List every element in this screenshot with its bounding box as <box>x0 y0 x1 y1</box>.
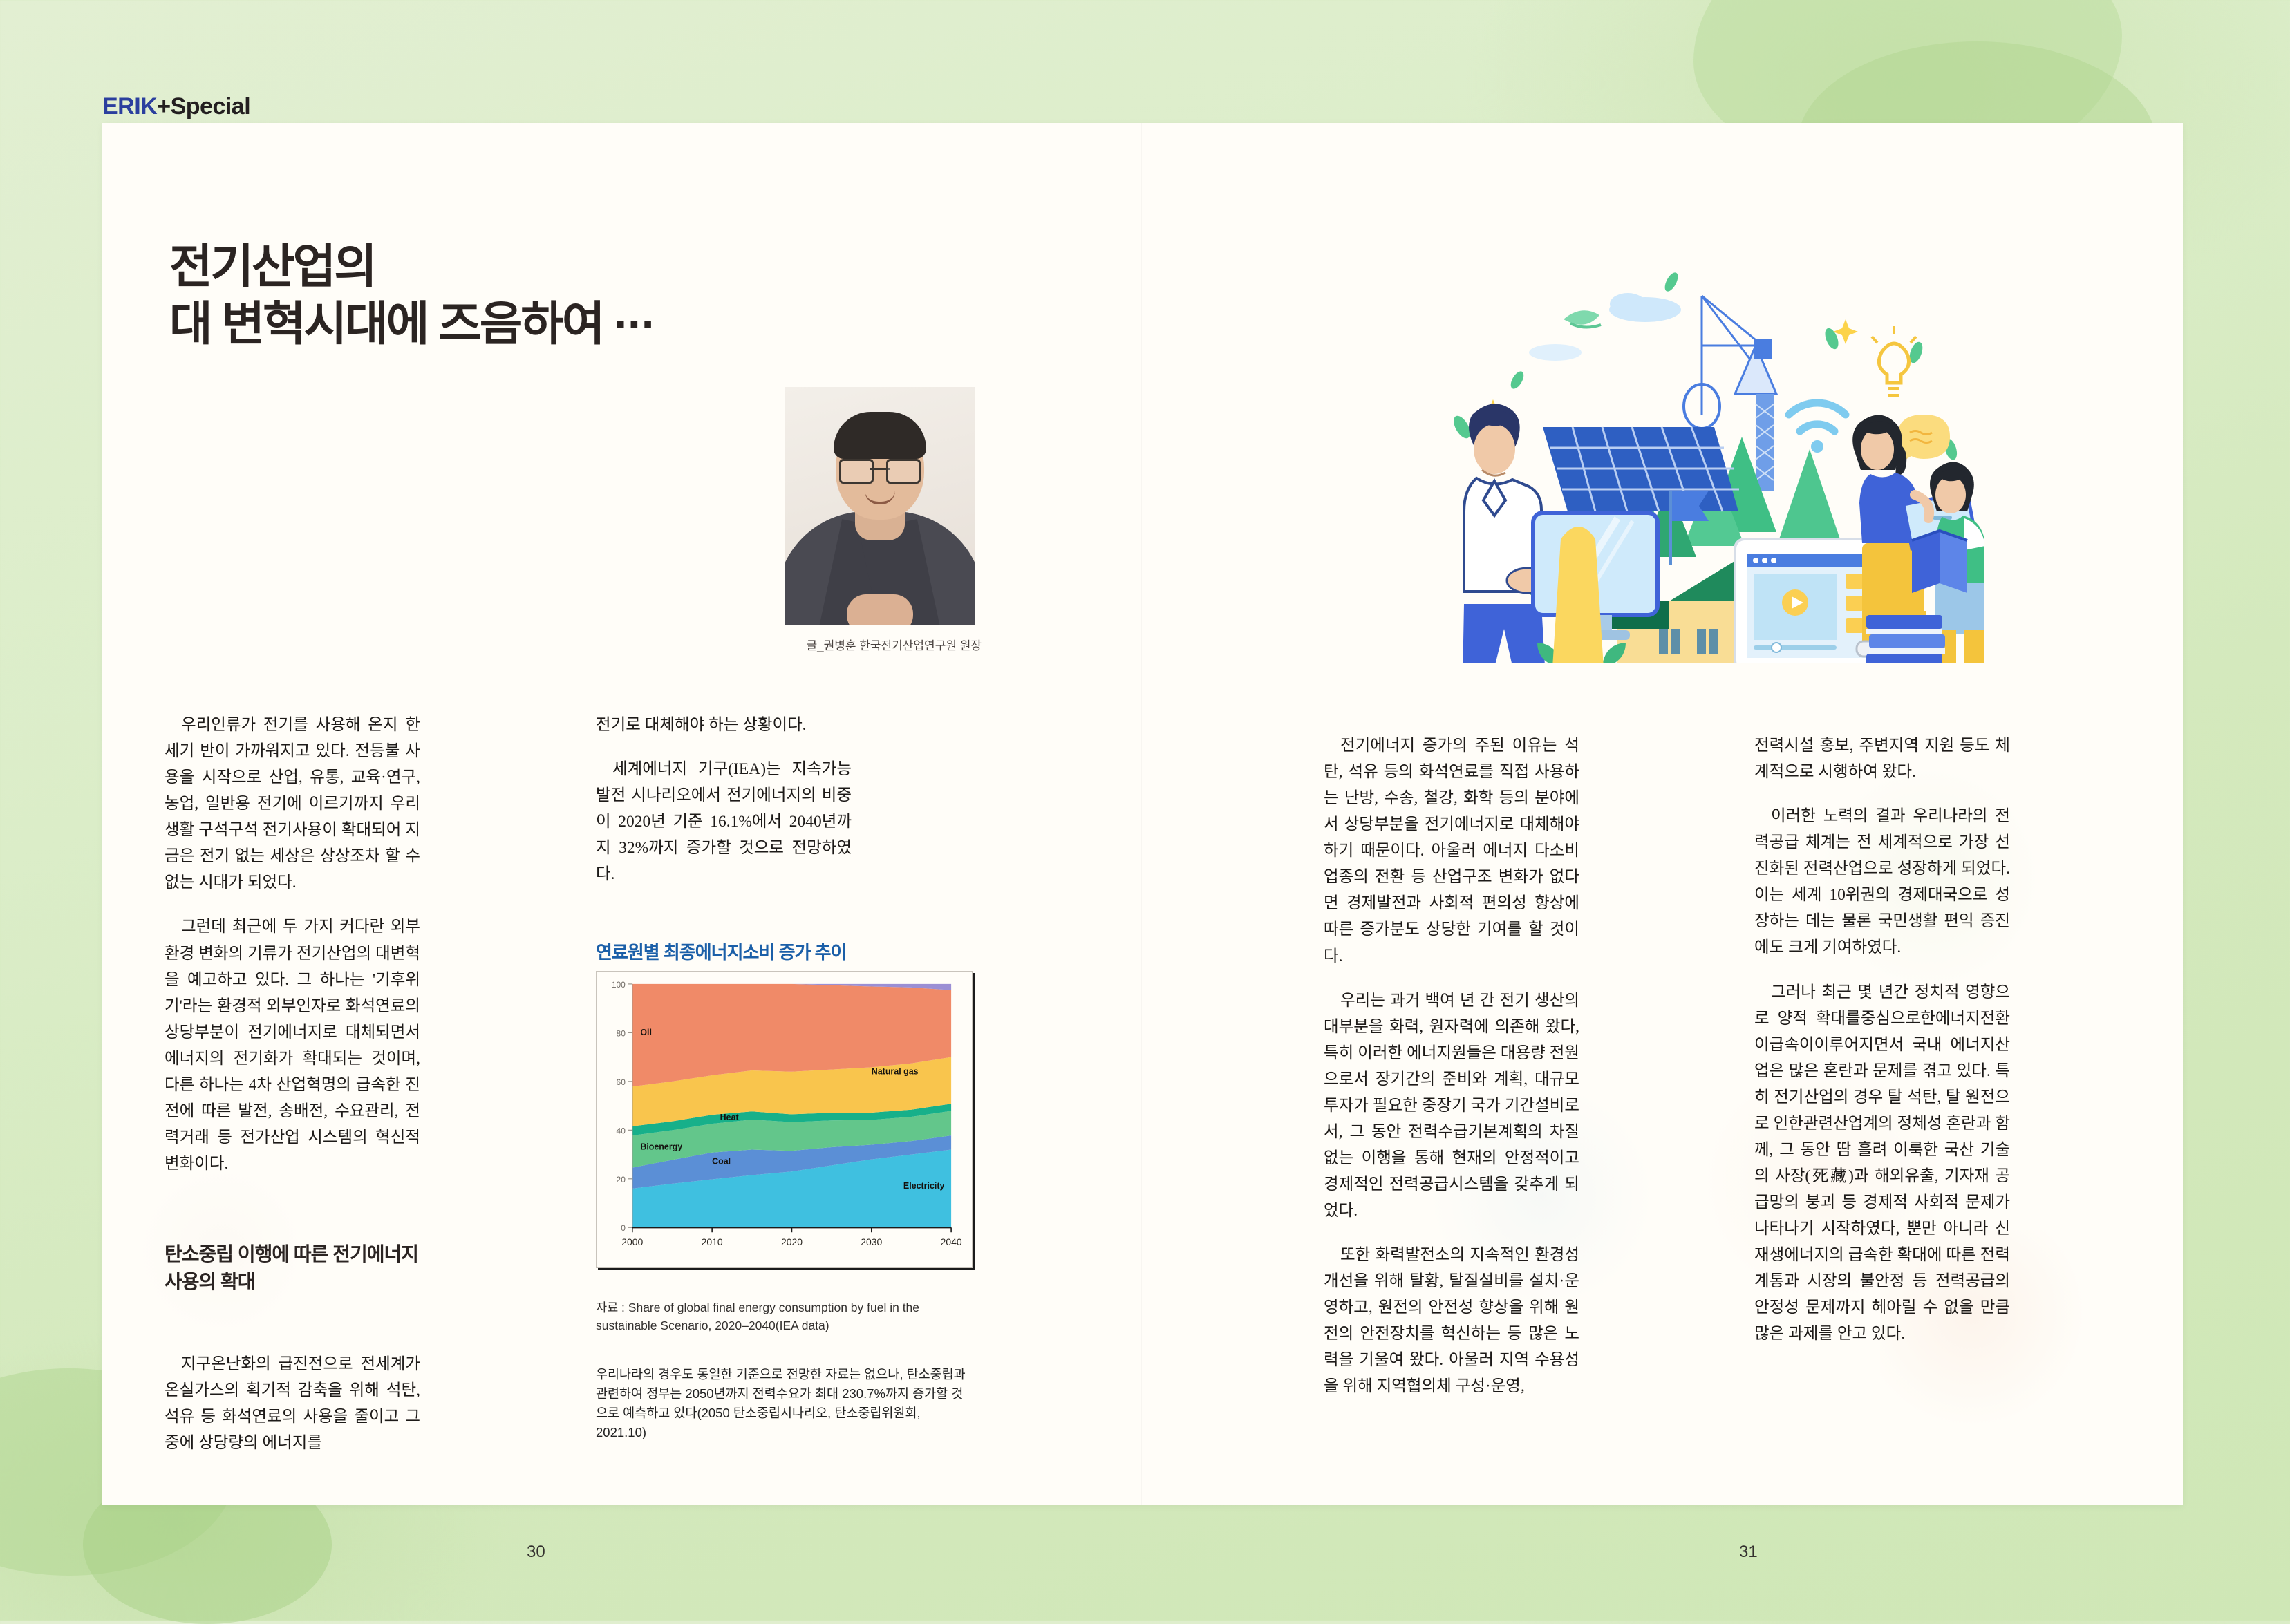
text-column-1-continued: 지구온난화의 급진전으로 전세계가 온실가스의 획기적 감축을 위해 석탄, 석… <box>165 1351 420 1456</box>
spread-fold <box>1141 123 1142 1505</box>
y-tick-label: 100 <box>612 980 626 990</box>
series-label-heat: Heat <box>720 1113 739 1122</box>
paragraph: 그러나 최근 몇 년간 정치적 영향으로 양적 확대를중심으로한에너지전환이급속… <box>1754 979 2010 1348</box>
section-subheading: 탄소중립 이행에 따른 전기에너지 사용의 확대 <box>165 1240 434 1296</box>
text-column-3: 전기에너지 증가의 주된 이유는 석탄, 석유 등의 화석연료를 직접 사용하는… <box>1324 733 1579 1418</box>
folder-icon <box>1846 574 1864 633</box>
page-number-right: 31 <box>1739 1542 1758 1562</box>
crane-mast <box>1756 394 1774 491</box>
subheading-line-2: 사용의 확대 <box>165 1268 434 1296</box>
page-title: 전기산업의 대 변혁시대에 즈음하여 ··· <box>169 238 655 353</box>
leaf-bird-icon <box>1564 310 1599 324</box>
chart-title: 연료원별 최종에너지소비 증가 추이 <box>596 938 973 964</box>
brand-special: +Special <box>157 93 250 120</box>
title-line-2: 대 변혁시대에 즈음하여 ··· <box>169 296 655 353</box>
x-tick-label: 2040 <box>941 1236 962 1247</box>
solar-panel-icon <box>1543 427 1739 511</box>
chart-plot-area: 02040608010020002010202020302040OilNatur… <box>596 971 973 1268</box>
paragraph: 전기에너지 증가의 주된 이유는 석탄, 석유 등의 화석연료를 직접 사용하는… <box>1324 733 1579 970</box>
chart-source-note: 자료 : Share of global final energy consum… <box>596 1299 973 1335</box>
x-tick-label: 2000 <box>621 1236 643 1247</box>
paragraph: 이러한 노력의 결과 우리나라의 전력공급 체계는 전 세계적으로 가장 선진화… <box>1754 803 2010 961</box>
paragraph: 전력시설 홍보, 주변지역 지원 등도 체계적으로 시행하여 왔다. <box>1754 733 2010 785</box>
paragraph: 지구온난화의 급진전으로 전세계가 온실가스의 획기적 감축을 위해 석탄, 석… <box>165 1351 420 1456</box>
lightbulb-icon <box>1872 326 1916 395</box>
y-tick-label: 20 <box>617 1175 626 1184</box>
author-portrait <box>785 387 975 625</box>
series-label-coal: Coal <box>712 1157 731 1167</box>
series-label-electricity: Electricity <box>903 1181 945 1191</box>
page-number-left: 30 <box>527 1542 545 1562</box>
portrait-hands <box>847 594 913 625</box>
text-column-1: 우리인류가 전기를 사용해 온지 한세기 반이 가까워지고 있다. 전등불 사용… <box>165 712 420 1195</box>
portrait-glasses <box>839 459 921 480</box>
y-tick-label: 80 <box>617 1028 626 1038</box>
figure-body-note: 우리나라의 경우도 동일한 기준으로 전망한 자료는 없으나, 탄소중립과 관련… <box>596 1365 973 1442</box>
magazine-brand: ERIK+Special <box>102 93 250 120</box>
y-tick-label: 40 <box>617 1126 626 1135</box>
x-tick-label: 2010 <box>702 1236 723 1247</box>
brand-erik: ERIK <box>102 93 157 120</box>
series-label-natural-gas: Natural gas <box>872 1066 919 1076</box>
hero-illustration <box>1389 242 1984 663</box>
chart-figure: 연료원별 최종에너지소비 증가 추이 020406080100200020102… <box>596 938 973 1268</box>
paragraph: 우리인류가 전기를 사용해 온지 한세기 반이 가까워지고 있다. 전등불 사용… <box>165 712 420 896</box>
stacked-books-icon <box>1866 615 1945 663</box>
paragraph: 또한 화력발전소의 지속적인 환경성 개선을 위해 탈황, 탈질설비를 설치·운… <box>1324 1242 1579 1399</box>
text-column-2: 전기로 대체해야 하는 상황이다. 세계에너지 기구(IEA)는 지속가능발전 … <box>596 712 852 905</box>
paragraph: 우리는 과거 백여 년 간 전기 생산의 대부분을 화력, 원자력에 의존해 왔… <box>1324 988 1579 1225</box>
paragraph: 전기로 대체해야 하는 상황이다. <box>596 712 852 738</box>
subheading-line-1: 탄소중립 이행에 따른 전기에너지 <box>165 1240 434 1268</box>
x-tick-label: 2030 <box>861 1236 882 1247</box>
series-label-oil: Oil <box>640 1028 652 1037</box>
title-line-1: 전기산업의 <box>169 238 655 296</box>
y-tick-label: 60 <box>617 1077 626 1087</box>
series-label-bioenergy: Bioenergy <box>640 1142 682 1152</box>
wifi-icon <box>1789 403 1846 431</box>
author-byline: 글_권병훈 한국전기산업연구원 원장 <box>733 636 982 653</box>
y-tick-label: 0 <box>621 1223 626 1233</box>
paragraph: 세계에너지 기구(IEA)는 지속가능발전 시나리오에서 전기에너지의 비중이 … <box>596 756 852 887</box>
paragraph: 그런데 최근에 두 가지 커다란 외부환경 변화의 기류가 전기산업의 대변혁을… <box>165 914 420 1177</box>
x-tick-label: 2020 <box>781 1236 803 1247</box>
crane-cab <box>1754 339 1772 359</box>
text-column-4: 전력시설 홍보, 주변지역 지원 등도 체계적으로 시행하여 왔다. 이러한 노… <box>1754 733 2010 1365</box>
